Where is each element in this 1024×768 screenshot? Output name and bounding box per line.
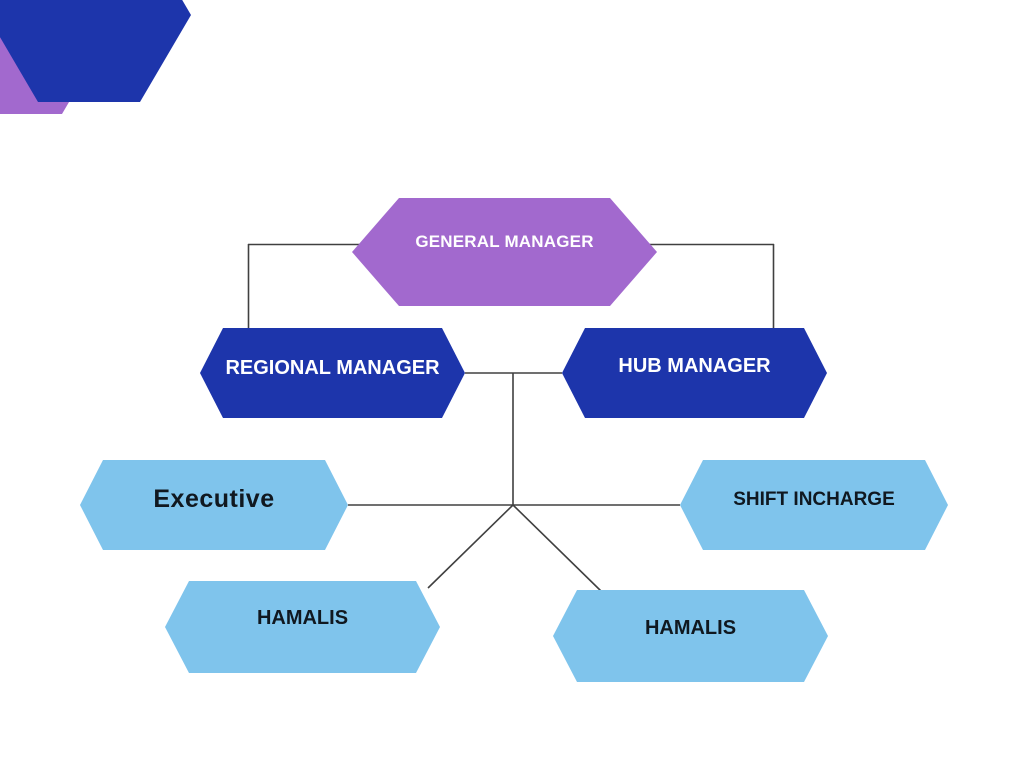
general-manager-hexagon-shape [352, 198, 657, 306]
node-hamalis-right[interactable]: HAMALIS [553, 590, 828, 682]
node-hub-manager[interactable]: HUB MANAGER [562, 328, 827, 418]
node-label-hub-manager: HUB MANAGER [618, 356, 770, 376]
node-label-executive: Executive [153, 487, 274, 512]
slide-canvas: GENERAL MANAGER REGIONAL MANAGER HUB MAN… [0, 0, 1024, 768]
node-label-regional-manager: REGIONAL MANAGER [225, 358, 439, 378]
node-hamalis-left[interactable]: HAMALIS [165, 581, 440, 673]
node-regional-manager[interactable]: REGIONAL MANAGER [200, 328, 465, 418]
node-general-manager[interactable]: GENERAL MANAGER [352, 198, 657, 306]
node-label-general-manager: GENERAL MANAGER [415, 233, 593, 250]
connector-junction-to-hamalis-right [513, 505, 602, 592]
connector-junction-to-hamalis-left [428, 505, 513, 588]
connector-lines-group [0, 0, 1024, 768]
node-shift-incharge[interactable]: SHIFT INCHARGE [680, 460, 948, 550]
node-label-hamalis-left: HAMALIS [257, 608, 348, 628]
node-label-hamalis-right: HAMALIS [645, 618, 736, 638]
node-label-shift-incharge: SHIFT INCHARGE [733, 490, 895, 509]
node-executive[interactable]: Executive [80, 460, 348, 550]
